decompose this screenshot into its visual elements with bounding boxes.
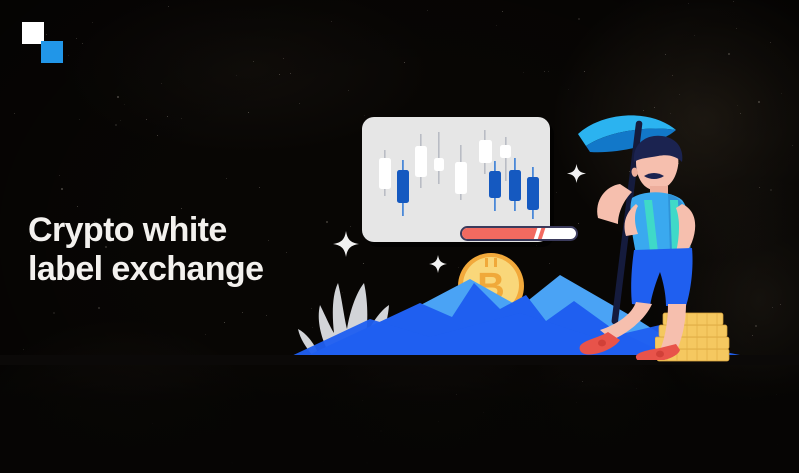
sparkle-star-icon [333,231,359,257]
miner-head [632,136,683,190]
miner-character [540,100,720,360]
candlestick-chart-card [362,117,550,242]
bottom-fade [0,363,799,473]
candlestick-chart [362,117,550,242]
crypto-banner: Crypto white label exchange [0,0,799,473]
progress-fill [462,228,538,239]
miner-shorts [631,248,692,306]
hero-illustration: B [0,0,799,473]
